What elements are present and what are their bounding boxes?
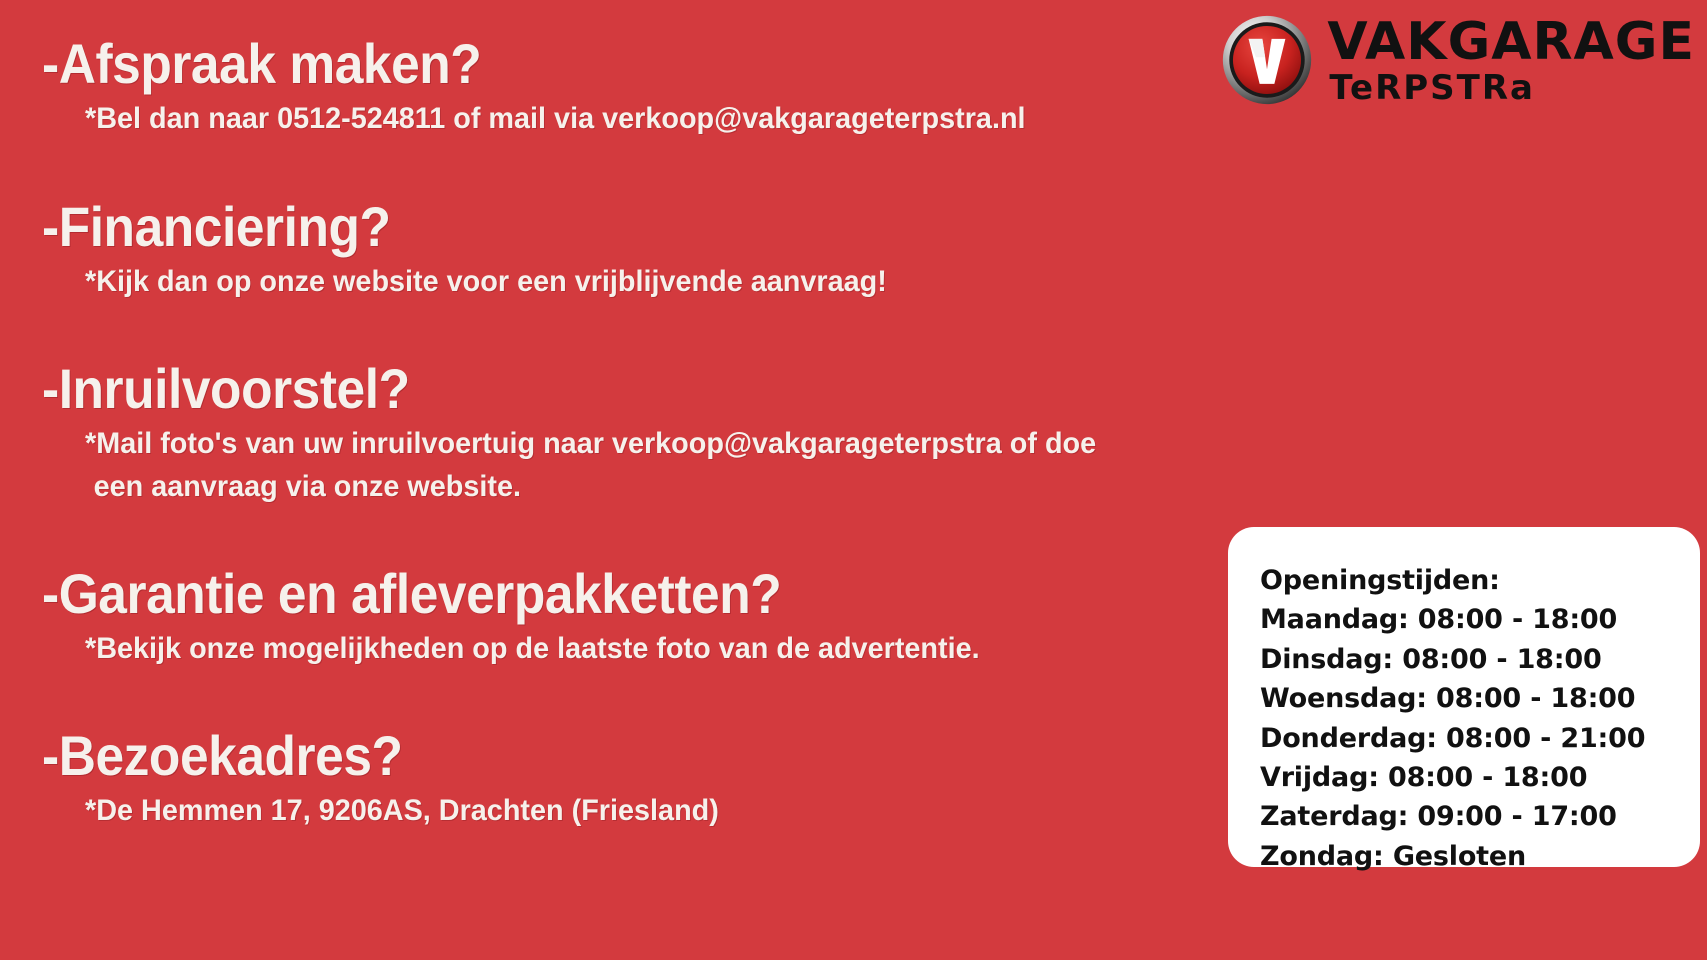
section-heading: -Bezoekadres? (42, 728, 689, 784)
opening-hours-row: Vrijdag: 08:00 - 18:00 (1260, 758, 1700, 797)
section-inruilvoorstel: -Inruilvoorstel? *Mail foto's van uw inr… (42, 361, 1138, 508)
section-garantie-afleverpakketten: -Garantie en afleverpakketten? *Bekijk o… (42, 566, 1017, 671)
section-subtext: *Mail foto's van uw inruilvoertuig naar … (85, 423, 1096, 508)
section-subtext: *Bel dan naar 0512-524811 of mail via ve… (85, 98, 1026, 141)
opening-hours-row: Zaterdag: 09:00 - 17:00 (1260, 797, 1700, 836)
section-subtext-line-1: *Mail foto's van uw inruilvoertuig naar … (85, 427, 1096, 460)
section-heading: -Afspraak maken? (42, 36, 983, 92)
section-financiering: -Financiering? *Kijk dan op onze website… (42, 199, 920, 304)
section-heading: -Garantie en afleverpakketten? (42, 566, 939, 622)
logo-subbrand-text: TeRPSTRa (1329, 71, 1535, 105)
section-heading: -Inruilvoorstel? (42, 361, 1051, 417)
logo-brand-text: VAKGARAGE (1327, 16, 1695, 68)
section-afspraak-maken: -Afspraak maken? *Bel dan naar 0512-5248… (42, 36, 1065, 141)
opening-hours-card: Openingstijden: Maandag: 08:00 - 18:00 D… (1228, 527, 1700, 867)
vakgarage-logo: VAKGARAGE TeRPSTRa (1221, 14, 1695, 106)
section-subtext: *Kijk dan op onze website voor een vrijb… (85, 261, 887, 304)
opening-hours-row: Maandag: 08:00 - 18:00 (1260, 600, 1700, 639)
opening-hours-title: Openingstijden: (1260, 561, 1700, 600)
section-subtext-line-2: een aanvraag via onze website. (94, 466, 1097, 509)
info-slide: VAKGARAGE TeRPSTRa -Afspraak maken? *Bel… (0, 0, 1707, 960)
opening-hours-row: Woensdag: 08:00 - 18:00 (1260, 679, 1700, 718)
section-subtext: *De Hemmen 17, 9206AS, Drachten (Friesla… (85, 790, 719, 833)
section-bezoekadres: -Bezoekadres? *De Hemmen 17, 9206AS, Dra… (42, 728, 745, 833)
section-heading: -Financiering? (42, 199, 850, 255)
opening-hours-row: Donderdag: 08:00 - 21:00 (1260, 719, 1700, 758)
section-subtext: *Bekijk onze mogelijkheden op de laatste… (85, 628, 980, 671)
vakgarage-v-badge-icon (1221, 14, 1313, 106)
opening-hours-row: Dinsdag: 08:00 - 18:00 (1260, 640, 1700, 679)
logo-wordmark: VAKGARAGE TeRPSTRa (1327, 16, 1695, 105)
opening-hours-row: Zondag: Gesloten (1260, 837, 1700, 876)
